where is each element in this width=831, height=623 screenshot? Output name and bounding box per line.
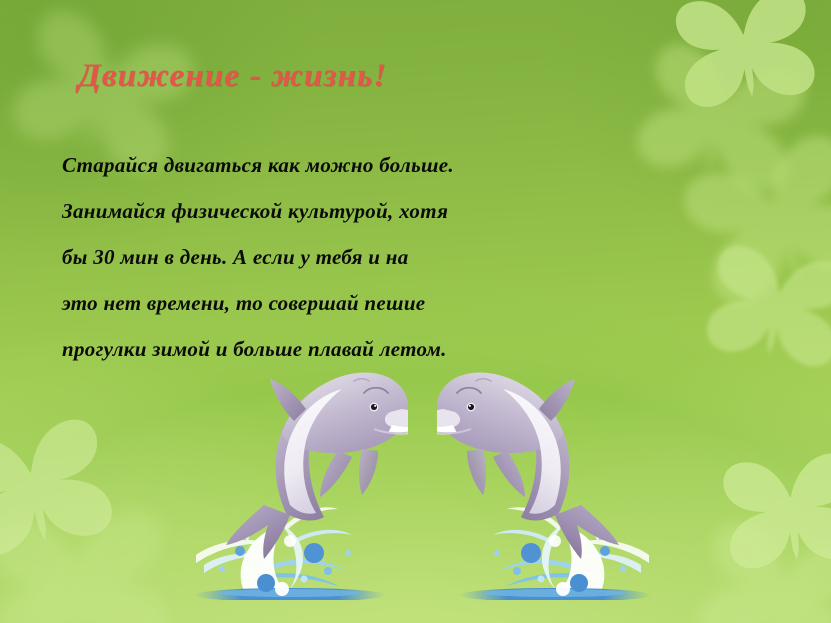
slide-title: Движение - жизнь! [78,58,387,95]
body-line: это нет времени, то совершай пешие [62,280,662,326]
body-line: Старайся двигаться как можно больше. [62,142,662,188]
body-text-block: Старайся двигаться как можно больше. Зан… [62,142,662,372]
body-line: Занимайся физической культурой, хотя [62,188,662,234]
background-corner-bottom-left [0,333,340,623]
slide-canvas: Движение - жизнь! Старайся двигаться как… [0,0,831,623]
body-line: прогулки зимой и больше плавай летом. [62,326,662,372]
background-corner-bottom-right [511,343,831,623]
body-line: бы 30 мин в день. А если у тебя и на [62,234,662,280]
